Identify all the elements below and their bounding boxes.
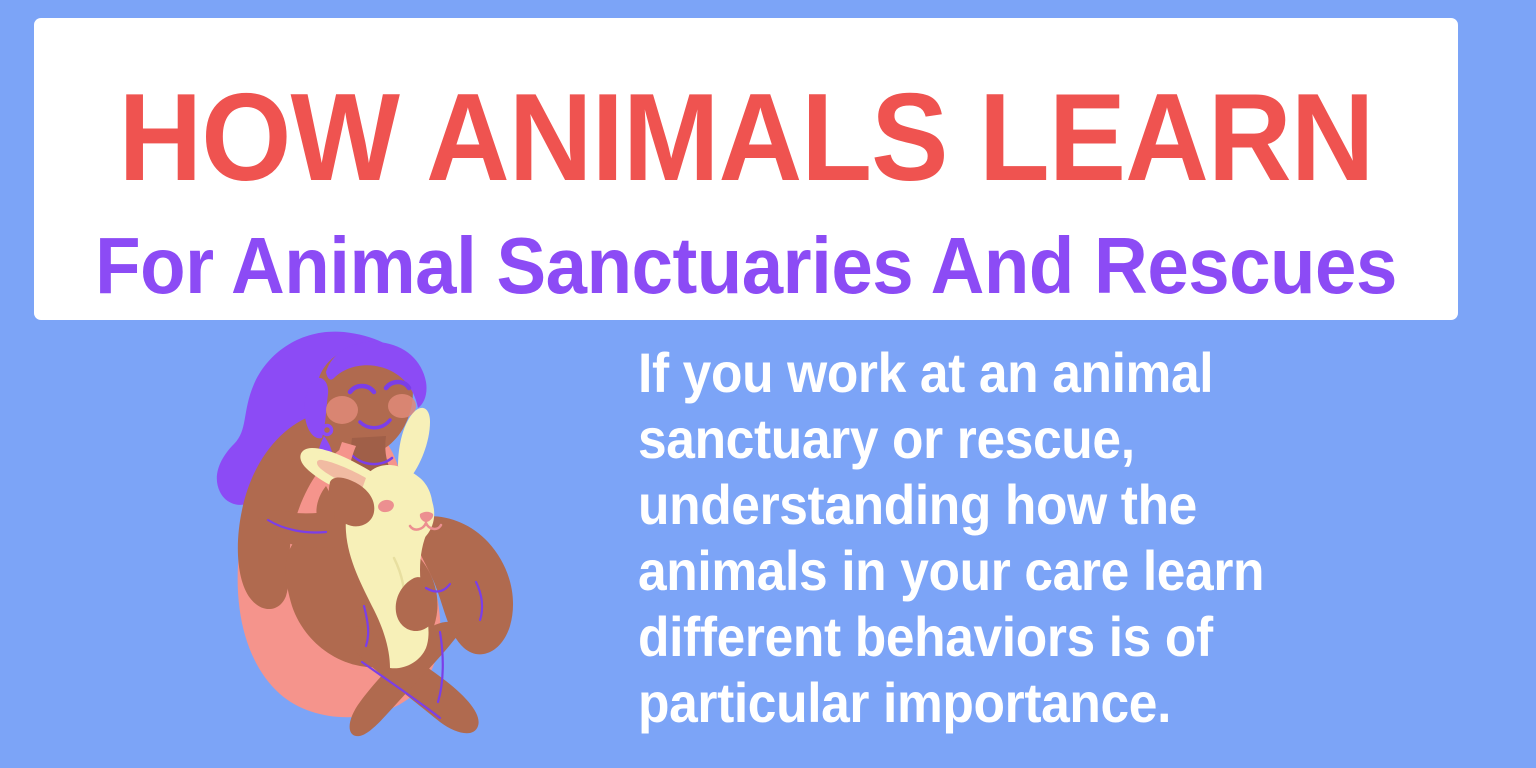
illustration-group [217, 332, 513, 737]
body-line: animals in your care learn [638, 538, 1282, 604]
illustration-woman-holding-rabbit [176, 326, 556, 756]
title-card: HOW ANIMALS LEARN For Animal Sanctuaries… [34, 18, 1458, 320]
body-paragraph: If you work at an animal sanctuary or re… [638, 340, 1338, 736]
body-line: understanding how the [638, 472, 1282, 538]
body-line: If you work at an animal [638, 340, 1282, 406]
body-line: different behaviors is of [638, 604, 1282, 670]
blush-right-icon [388, 394, 416, 418]
blush-left-icon [326, 396, 358, 424]
body-line: particular importance. [638, 670, 1282, 736]
page-subtitle: For Animal Sanctuaries And Rescues [84, 226, 1408, 306]
page-title: HOW ANIMALS LEARN [80, 76, 1411, 200]
body-line: sanctuary or rescue, [638, 406, 1282, 472]
infographic-canvas: HOW ANIMALS LEARN For Animal Sanctuaries… [0, 0, 1536, 768]
